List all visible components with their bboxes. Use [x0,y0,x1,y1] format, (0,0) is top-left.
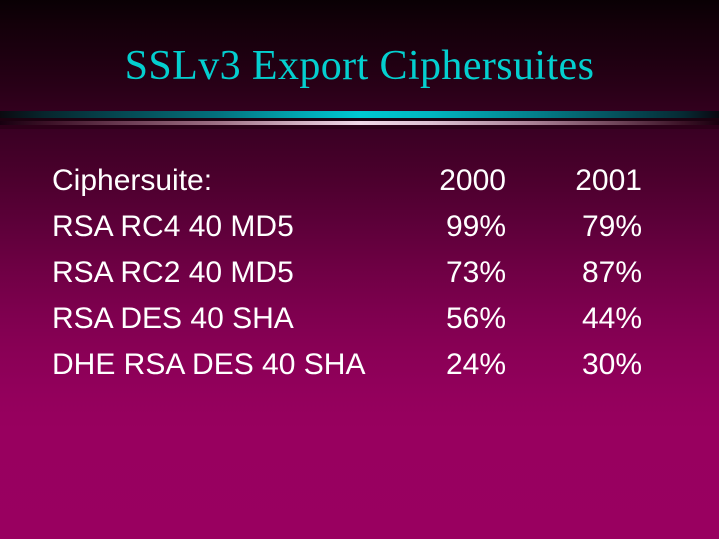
row-value-2001: 30% [518,342,642,388]
divider-bar-cyan [0,111,719,118]
row-ciphersuite-name: RSA RC4 40 MD5 [52,204,294,250]
row-value-2001: 87% [518,250,642,296]
header-year-2001: 2001 [518,158,642,204]
row-value-2000: 24% [382,342,506,388]
ciphersuite-table: Ciphersuite: 2000 2001 RSA RC4 40 MD5 99… [52,158,652,388]
row-value-2000: 73% [382,250,506,296]
row-ciphersuite-name: RSA RC2 40 MD5 [52,250,294,296]
row-value-2001: 79% [518,204,642,250]
header-year-2000: 2000 [382,158,506,204]
table-row: DHE RSA DES 40 SHA 24% 30% [52,342,652,388]
header-ciphersuite-label: Ciphersuite: [52,158,212,204]
row-ciphersuite-name: DHE RSA DES 40 SHA [52,342,365,388]
table-row: RSA DES 40 SHA 56% 44% [52,296,652,342]
divider-underline [0,125,719,129]
row-ciphersuite-name: RSA DES 40 SHA [52,296,294,342]
row-value-2000: 99% [382,204,506,250]
table-row: RSA RC4 40 MD5 99% 79% [52,204,652,250]
row-value-2000: 56% [382,296,506,342]
table-header-row: Ciphersuite: 2000 2001 [52,158,652,204]
slide-title: SSLv3 Export Ciphersuites [0,42,719,90]
presentation-slide: SSLv3 Export Ciphersuites Ciphersuite: 2… [0,0,719,539]
table-row: RSA RC2 40 MD5 73% 87% [52,250,652,296]
slide-title-text: SSLv3 Export Ciphersuites [125,42,595,90]
row-value-2001: 44% [518,296,642,342]
